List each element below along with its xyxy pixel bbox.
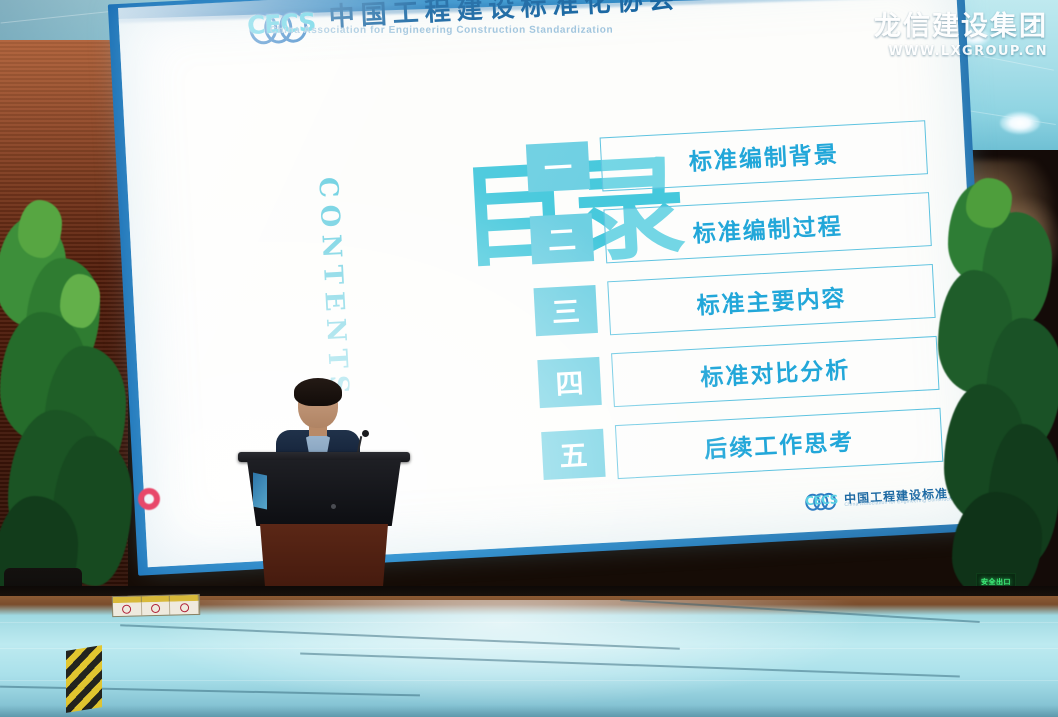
item-number: 三 <box>534 285 598 336</box>
calibration-dot-icon <box>138 488 160 510</box>
item-label: 标准对比分析 <box>699 351 851 393</box>
microphone-icon <box>362 430 369 437</box>
podium-front-panel <box>247 460 401 526</box>
item-label: 后续工作思考 <box>703 422 855 464</box>
hazard-stripe <box>66 645 102 713</box>
item-label: 标准编制背景 <box>688 135 840 177</box>
plant-left <box>0 196 132 616</box>
list-item[interactable]: 五 后续工作思考 <box>541 403 944 488</box>
item-number: 四 <box>537 357 601 408</box>
item-bar: 标准编制背景 <box>600 120 928 191</box>
item-bar: 标准编制过程 <box>603 192 931 263</box>
safety-notice-board <box>112 594 201 617</box>
item-bar: 后续工作思考 <box>615 408 943 479</box>
contents-list: 一 标准编制背景 二 标准编制过程 三 标准主要内 <box>525 115 944 496</box>
item-label: 标准主要内容 <box>696 279 848 321</box>
list-item[interactable]: 二 标准编制过程 <box>529 187 932 272</box>
presentation-photo: CECS 中国工程建设标准化协会 China Association for E… <box>0 0 1058 717</box>
contents-title-en: CONTENTS <box>312 176 354 401</box>
item-label: 标准编制过程 <box>692 207 844 249</box>
item-number: 一 <box>526 141 590 192</box>
org-name-en: China Association for Engineering Constr… <box>270 25 614 36</box>
cecs-abbr-small: CECS <box>805 491 838 509</box>
floor-light-reflection <box>160 600 920 717</box>
watermark-url: WWW.LXGROUP.CN <box>874 44 1048 59</box>
watermark: 龙信建设集团 WWW.LXGROUP.CN <box>874 4 1048 59</box>
podium-badge <box>253 473 267 510</box>
conference-room: CECS 中国工程建设标准化协会 China Association for E… <box>0 0 1058 717</box>
list-item[interactable]: 一 标准编制背景 <box>525 115 928 200</box>
slide-header-logo: CECS 中国工程建设标准化协会 <box>246 0 681 43</box>
item-bar: 标准主要内容 <box>607 264 935 335</box>
item-number: 五 <box>541 429 605 480</box>
exit-sign-label: 安全出口 <box>981 577 1011 587</box>
plant-right <box>942 178 1058 608</box>
item-number: 二 <box>530 213 594 264</box>
cecs-logo-icon-small: CECS <box>805 491 840 509</box>
list-item[interactable]: 四 标准对比分析 <box>537 331 940 416</box>
item-bar: 标准对比分析 <box>611 336 939 407</box>
watermark-brand: 龙信建设集团 <box>874 4 1048 43</box>
speaker-hair <box>294 378 342 406</box>
list-item[interactable]: 三 标准主要内容 <box>533 259 936 344</box>
podium-button-icon <box>331 504 336 509</box>
safety-board-icons <box>113 601 199 616</box>
